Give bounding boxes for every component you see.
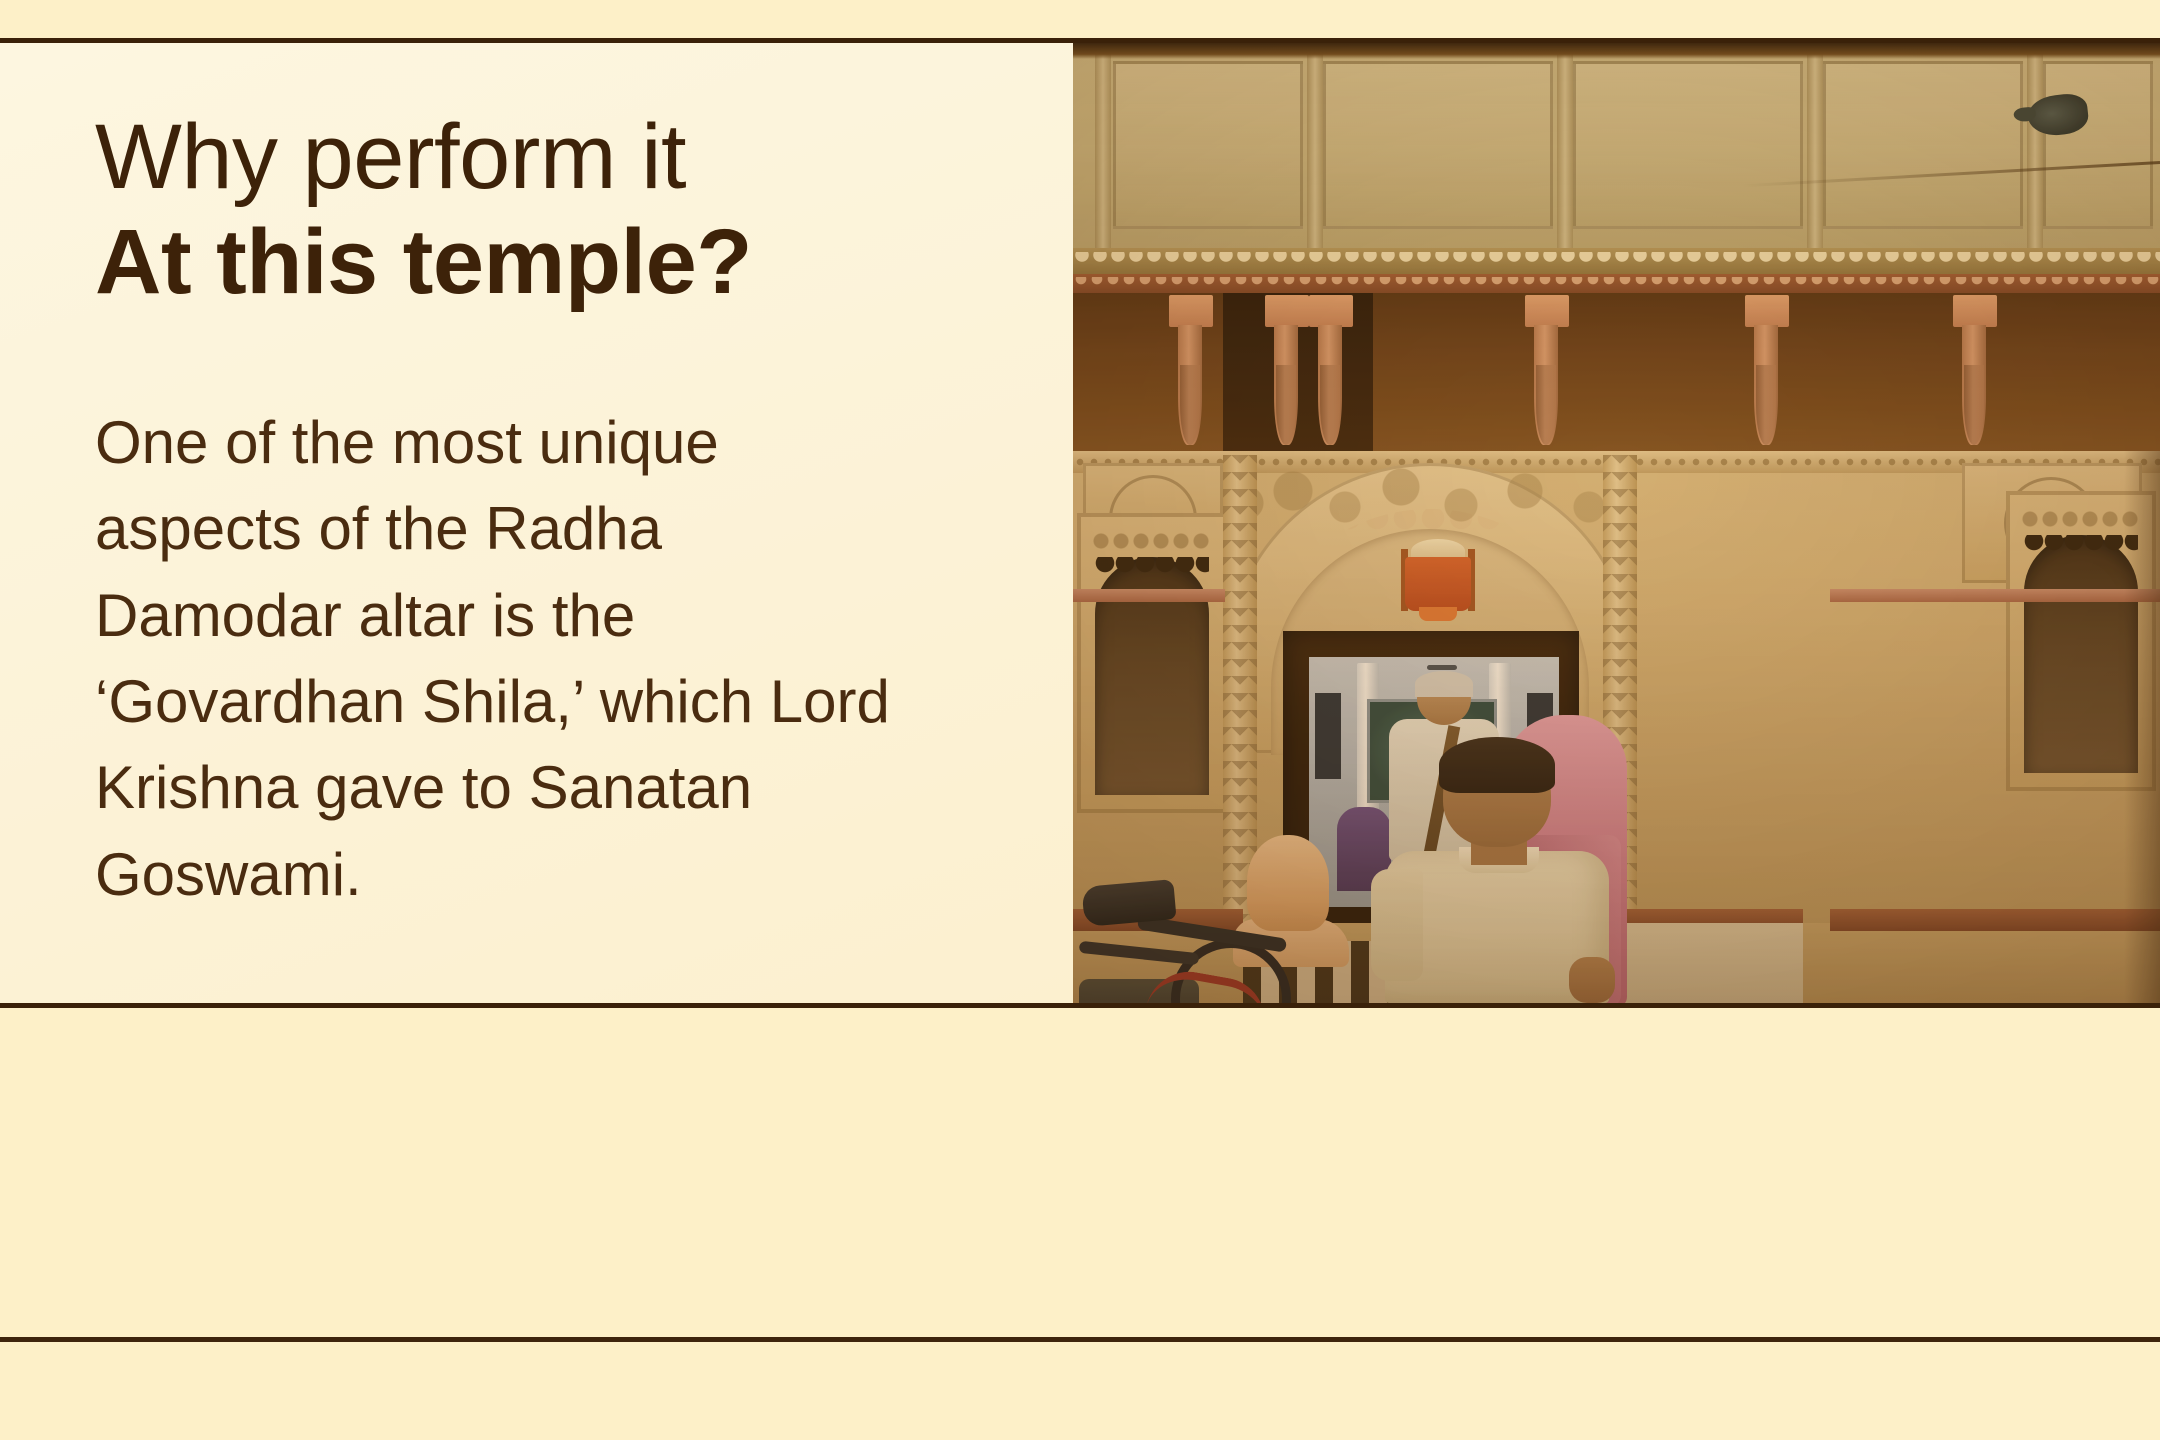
side-niche-left (1077, 513, 1227, 813)
wall-rib (2027, 43, 2043, 258)
page-title: Why perform it At this temple? (95, 111, 995, 314)
plinth-ledge (1830, 909, 2160, 931)
slide-canvas: Why perform it At this temple? One of th… (0, 0, 2160, 1440)
ceiling-fan-icon (1427, 665, 1457, 670)
parked-bicycle (1079, 883, 1309, 1003)
frieze-scallops (1073, 248, 2160, 274)
corbel-bracket (1953, 295, 1997, 445)
right-shadow-column (2124, 451, 2160, 1003)
frieze-scallops-red (1073, 274, 2160, 293)
bottom-divider-rule (0, 1003, 2160, 1008)
corbel-bracket (1265, 295, 1309, 445)
wall-rib (1557, 43, 1573, 258)
corbel-bracket (1309, 295, 1353, 445)
wall-rib (1807, 43, 1823, 258)
body-paragraph: One of the most unique aspects of the Ra… (95, 400, 925, 918)
wall-panel (1113, 61, 1303, 229)
text-panel: Why perform it At this temple? One of th… (0, 43, 1073, 1003)
photo-scene (1073, 43, 2160, 1003)
wall-panel (1323, 61, 1553, 229)
corbel-bracket (1525, 295, 1569, 445)
painted-accent-band (1830, 589, 2160, 602)
deity-shrine-niche (1393, 537, 1483, 623)
wall-panel (1573, 61, 1803, 229)
headline-line-2: At this temple? (95, 211, 995, 314)
red-dentil-frieze (1073, 274, 2160, 293)
upper-panelled-wall (1073, 43, 2160, 258)
corbel-bracket (1745, 295, 1789, 445)
ceiling-shadow (1073, 43, 2160, 59)
scalloped-dentil-frieze (1073, 248, 2160, 274)
corbel-bracket (1169, 295, 1213, 445)
wall-panel (2043, 61, 2153, 229)
wall-rib (1095, 43, 1111, 258)
foreground-man-cream-shirt (1371, 743, 1621, 1003)
temple-entrance-photo (1073, 43, 2160, 1003)
wall-panel (1823, 61, 2023, 229)
painted-accent-band (1073, 589, 1225, 602)
headline-line-1: Why perform it (95, 111, 995, 205)
footer-divider-rule (0, 1337, 2160, 1342)
wall-rib (1307, 43, 1323, 258)
